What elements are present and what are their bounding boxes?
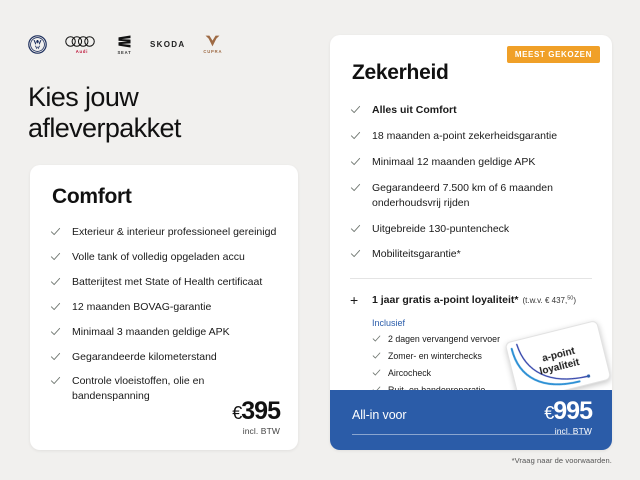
bonus-value-prefix: (t.w.v. € 437, <box>522 296 567 305</box>
list-item: Alles uit Comfort <box>350 103 594 129</box>
list-item: 18 maanden a-point zekerheidsgarantie <box>350 129 594 155</box>
footnote: *Vraag naar de voorwaarden. <box>512 456 612 465</box>
page-title-line1: Kies jouw <box>28 82 138 112</box>
list-item-label: 2 dagen vervangend vervoer <box>388 334 500 344</box>
check-icon <box>350 104 361 115</box>
list-item-label: Minimaal 3 maanden geldige APK <box>72 326 230 338</box>
check-icon <box>50 351 61 362</box>
delivery-package-page: Audi SEAT SKODA CUPRA Kies jouw afleverp… <box>0 0 640 480</box>
check-icon <box>372 334 381 343</box>
zekerheid-price: €995 <box>544 399 592 424</box>
included-title: Inclusief <box>372 318 592 328</box>
seat-logo: SEAT <box>117 34 132 55</box>
check-icon <box>350 156 361 167</box>
zekerheid-package-card[interactable]: MEEST GEKOZEN Zekerheid Alles uit Comfor… <box>330 35 612 450</box>
list-item-label: Minimaal 12 maanden geldige APK <box>372 156 535 168</box>
page-title: Kies jouw afleverpakket <box>28 82 308 145</box>
bonus-value: (t.w.v. € 437,50) <box>522 296 576 305</box>
list-item-label: Zomer- en winterchecks <box>388 351 482 361</box>
list-item: Mobiliteitsgarantie* <box>350 247 594 273</box>
zekerheid-price-note: incl. BTW <box>544 426 592 436</box>
list-item: Gegarandeerd 7.500 km of 6 maanden onder… <box>350 181 594 222</box>
list-item-label: Alles uit Comfort <box>372 104 457 116</box>
list-item-label: Gegarandeerd 7.500 km of 6 maanden onder… <box>372 182 553 209</box>
check-icon <box>50 276 61 287</box>
list-item-label: Mobiliteitsgarantie* <box>372 248 461 260</box>
zekerheid-price-amount: 995 <box>553 397 592 425</box>
list-item-label: Controle vloeistoffen, olie en bandenspa… <box>72 375 204 402</box>
check-icon <box>50 301 61 312</box>
comfort-price-amount: 395 <box>241 397 280 425</box>
list-item: Uitgebreide 130-puntencheck <box>350 222 594 248</box>
check-icon <box>50 326 61 337</box>
check-icon <box>50 375 61 386</box>
comfort-price-block: €395 incl. BTW <box>232 399 280 436</box>
check-icon <box>50 226 61 237</box>
list-item: Minimaal 12 maanden geldige APK <box>350 155 594 181</box>
cupra-logo: CUPRA <box>203 34 222 54</box>
comfort-price-note: incl. BTW <box>232 426 280 436</box>
volkswagen-logo <box>28 35 47 54</box>
list-item: Volle tank of volledig opgeladen accu <box>50 250 278 275</box>
currency-symbol: € <box>232 403 241 423</box>
list-item-label: Volle tank of volledig opgeladen accu <box>72 251 245 263</box>
list-item: 12 maanden BOVAG-garantie <box>50 300 278 325</box>
list-item: Gegarandeerde kilometerstand <box>50 350 278 375</box>
check-icon <box>372 351 381 360</box>
bonus-value-suffix: ) <box>573 296 576 305</box>
section-divider <box>350 278 592 279</box>
check-icon <box>350 182 361 193</box>
bonus-row: + 1 jaar gratis a-point loyaliteit*(t.w.… <box>350 294 592 308</box>
currency-symbol: € <box>544 403 553 423</box>
skoda-logo: SKODA <box>150 40 185 49</box>
comfort-feature-list: Exterieur & interieur professioneel gere… <box>30 209 298 414</box>
audi-logo: Audi <box>65 35 99 54</box>
seat-logo-caption: SEAT <box>117 50 131 55</box>
page-title-line2: afleverpakket <box>28 113 308 144</box>
comfort-package-card[interactable]: Comfort Exterieur & interieur profession… <box>30 165 298 450</box>
comfort-card-title: Comfort <box>30 165 298 209</box>
list-item-label: 12 maanden BOVAG-garantie <box>72 301 211 313</box>
check-icon <box>350 223 361 234</box>
skoda-logo-caption: SKODA <box>150 40 185 49</box>
check-icon <box>50 251 61 262</box>
audi-logo-caption: Audi <box>76 49 89 54</box>
check-icon <box>350 248 361 259</box>
list-item: Exterieur & interieur professioneel gere… <box>50 225 278 250</box>
list-item: Minimaal 3 maanden geldige APK <box>50 325 278 350</box>
list-item-label: Exterieur & interieur professioneel gere… <box>72 226 276 238</box>
check-icon <box>350 130 361 141</box>
list-item-label: Aircocheck <box>388 368 431 378</box>
cupra-logo-caption: CUPRA <box>203 49 222 54</box>
brand-logo-strip: Audi SEAT SKODA CUPRA <box>28 32 222 56</box>
plus-icon: + <box>350 293 358 307</box>
status-badge: MEEST GEKOZEN <box>507 46 600 63</box>
comfort-price: €395 <box>232 399 280 424</box>
check-icon <box>372 368 381 377</box>
list-item: Batterijtest met State of Health certifi… <box>50 275 278 300</box>
list-item-label: Gegarandeerde kilometerstand <box>72 351 217 363</box>
list-item-label: 18 maanden a-point zekerheidsgarantie <box>372 130 557 142</box>
bonus-title: 1 jaar gratis a-point loyaliteit* <box>372 294 518 306</box>
zekerheid-price-block: €995 incl. BTW <box>544 399 592 436</box>
allin-price-bar: All-in voor €995 incl. BTW <box>330 390 612 450</box>
list-item-label: Uitgebreide 130-puntencheck <box>372 223 509 235</box>
allin-label: All-in voor <box>352 408 406 422</box>
list-item-label: Batterijtest met State of Health certifi… <box>72 276 262 288</box>
zekerheid-feature-list: Alles uit Comfort 18 maanden a-point zek… <box>330 85 612 273</box>
